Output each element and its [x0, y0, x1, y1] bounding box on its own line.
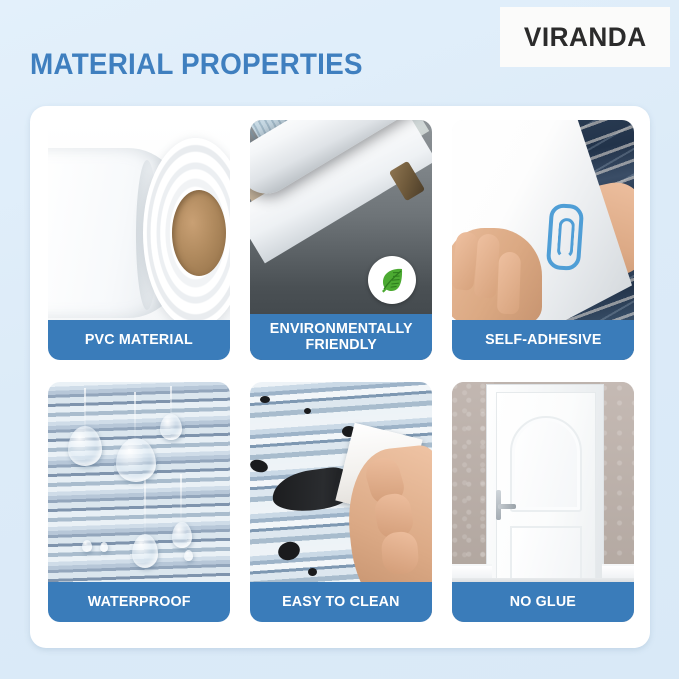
dirt-spot — [308, 568, 317, 576]
door-handle — [498, 504, 516, 509]
feature-grid: PVC MATERIAL ENVIRONMENTALL — [48, 120, 632, 630]
finger-shape — [497, 252, 521, 315]
pvc-core-shape — [172, 190, 226, 276]
water-droplet — [100, 542, 108, 552]
card-label-line: WATERPROOF — [88, 594, 191, 610]
card-label-easy-to-clean: EASY TO CLEAN — [250, 582, 432, 622]
feature-card-self-adhesive[interactable]: SELF-ADHESIVE — [452, 120, 634, 360]
dirt-spot — [276, 539, 302, 563]
dirt-spot — [260, 396, 270, 403]
water-droplet — [132, 534, 158, 568]
water-droplet — [82, 540, 92, 552]
droplet-trail — [144, 478, 146, 538]
water-droplet — [68, 426, 102, 466]
feature-card-pvc-material[interactable]: PVC MATERIAL — [48, 120, 230, 360]
card-label-waterproof: WATERPROOF — [48, 582, 230, 622]
droplet-trail — [180, 474, 182, 526]
finger-shape — [474, 233, 500, 298]
knuckle-shape — [381, 531, 420, 575]
card-label-line: SELF-ADHESIVE — [485, 332, 601, 348]
card-label-environmentally-friendly: ENVIRONMENTALLY FRIENDLY — [250, 314, 432, 360]
leaf-icon — [368, 256, 416, 304]
droplet-trail — [134, 392, 136, 442]
brand-logo-box: VIRANDA — [500, 7, 670, 67]
water-droplet — [160, 414, 182, 440]
paperclip-icon — [546, 203, 585, 271]
right-wall-shape — [600, 382, 634, 578]
feature-card-environmentally-friendly[interactable]: ENVIRONMENTALLY FRIENDLY — [250, 120, 432, 360]
card-label-self-adhesive: SELF-ADHESIVE — [452, 320, 634, 360]
door-upper-panel — [510, 416, 582, 512]
card-label-line: ENVIRONMENTALLY — [269, 321, 412, 337]
feature-card-no-glue[interactable]: NO GLUE — [452, 382, 634, 622]
dirt-spot — [250, 458, 269, 474]
feature-card-easy-to-clean[interactable]: EASY TO CLEAN — [250, 382, 432, 622]
door-lower-panel — [510, 526, 582, 582]
dirt-spot — [304, 408, 311, 414]
water-droplet — [184, 550, 193, 561]
card-label-line: FRIENDLY — [269, 337, 412, 353]
brand-name: VIRANDA — [524, 22, 647, 53]
card-label-line: NO GLUE — [510, 594, 576, 610]
card-label-pvc-material: PVC MATERIAL — [48, 320, 230, 360]
card-label-line: EASY TO CLEAN — [282, 594, 400, 610]
card-label-no-glue: NO GLUE — [452, 582, 634, 622]
water-droplet — [172, 522, 192, 548]
feature-card-waterproof[interactable]: WATERPROOF — [48, 382, 230, 622]
card-label-line: PVC MATERIAL — [85, 332, 193, 348]
water-droplet — [116, 438, 156, 482]
page-title: MATERIAL PROPERTIES — [30, 48, 363, 82]
